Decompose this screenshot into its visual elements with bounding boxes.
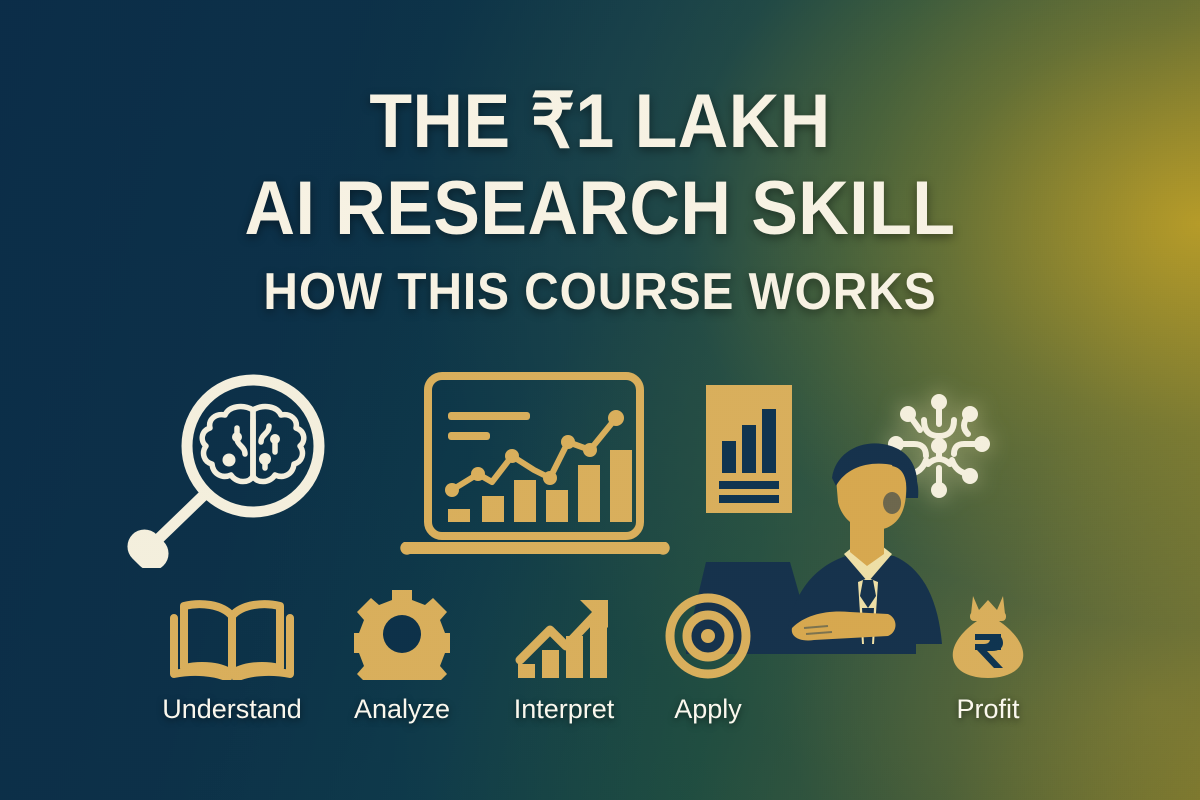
- money-bag-rupee-icon: [943, 590, 1033, 680]
- step-apply[interactable]: Apply: [618, 594, 798, 725]
- steps-row: Understand Analyze: [0, 594, 1200, 754]
- step-understand[interactable]: Understand: [142, 594, 322, 725]
- step-label: Analyze: [312, 694, 492, 725]
- open-book-icon: [170, 596, 294, 680]
- target-icon: [664, 592, 752, 680]
- gear-icon: [354, 588, 450, 680]
- step-label: Apply: [618, 694, 798, 725]
- step-label: Understand: [142, 694, 322, 725]
- step-analyze[interactable]: Analyze: [312, 594, 492, 725]
- step-profit[interactable]: Profit: [898, 594, 1078, 725]
- magnifier-brain-icon: [125, 368, 340, 568]
- bar-chart-arrow-icon: [512, 594, 616, 680]
- step-label: Profit: [898, 694, 1078, 725]
- laptop-chart-icon: [400, 370, 670, 565]
- poster-canvas: THE ₹1 LAKH AI RESEARCH SKILL HOW THIS C…: [0, 0, 1200, 800]
